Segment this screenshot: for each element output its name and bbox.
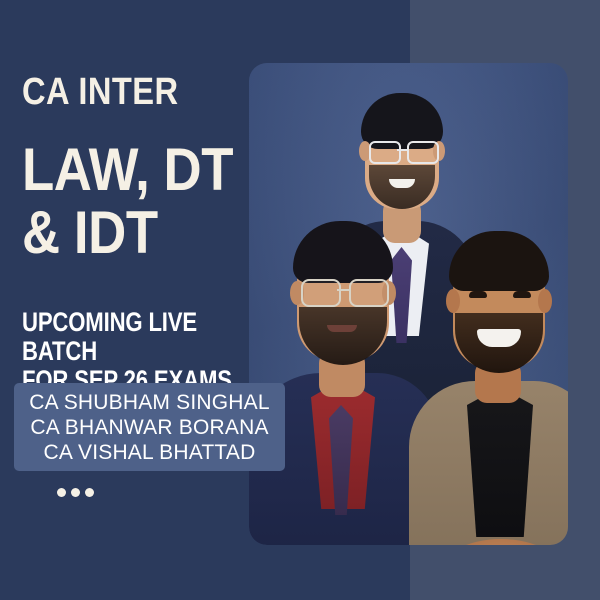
dot-icon — [57, 488, 66, 497]
dot-icon — [85, 488, 94, 497]
dress-shirt — [467, 387, 533, 537]
beard — [299, 307, 387, 365]
faculty-photo-card — [249, 63, 568, 545]
hair — [449, 231, 549, 291]
faculty-portrait-front-right — [409, 191, 568, 545]
page-title: LAW, DT & IDT — [22, 138, 268, 264]
batch-announcement: UPCOMING LIVE BATCH FOR SEP 26 EXAMS — [22, 308, 268, 395]
dot-icon — [71, 488, 80, 497]
ear-left — [446, 289, 460, 313]
decorative-dots — [57, 488, 94, 497]
smile — [327, 325, 357, 332]
eyeglass-lens-left — [301, 279, 341, 307]
eyeglass-lens-left — [369, 141, 401, 164]
course-level-label: CA INTER — [22, 72, 179, 112]
ear-right — [538, 289, 552, 313]
eye-left — [469, 291, 487, 298]
faculty-name: CA SHUBHAM SINGHAL — [29, 390, 270, 415]
batch-announcement-line-1: UPCOMING LIVE BATCH — [22, 308, 268, 366]
eyeglass-lens-right — [349, 279, 389, 307]
eyeglass-lens-right — [407, 141, 439, 164]
eye-right — [513, 291, 531, 298]
smile — [477, 329, 521, 347]
eyeglass-bridge — [397, 149, 407, 151]
hair — [293, 221, 393, 283]
faculty-name: CA BHANWAR BORANA — [30, 415, 268, 440]
faculty-name: CA VISHAL BHATTAD — [44, 440, 256, 465]
eyeglass-bridge — [337, 289, 349, 291]
course-promo-poster: CA INTER LAW, DT & IDT UPCOMING LIVE BAT… — [0, 0, 600, 600]
faculty-name-box: CA SHUBHAM SINGHAL CA BHANWAR BORANA CA … — [14, 383, 285, 471]
